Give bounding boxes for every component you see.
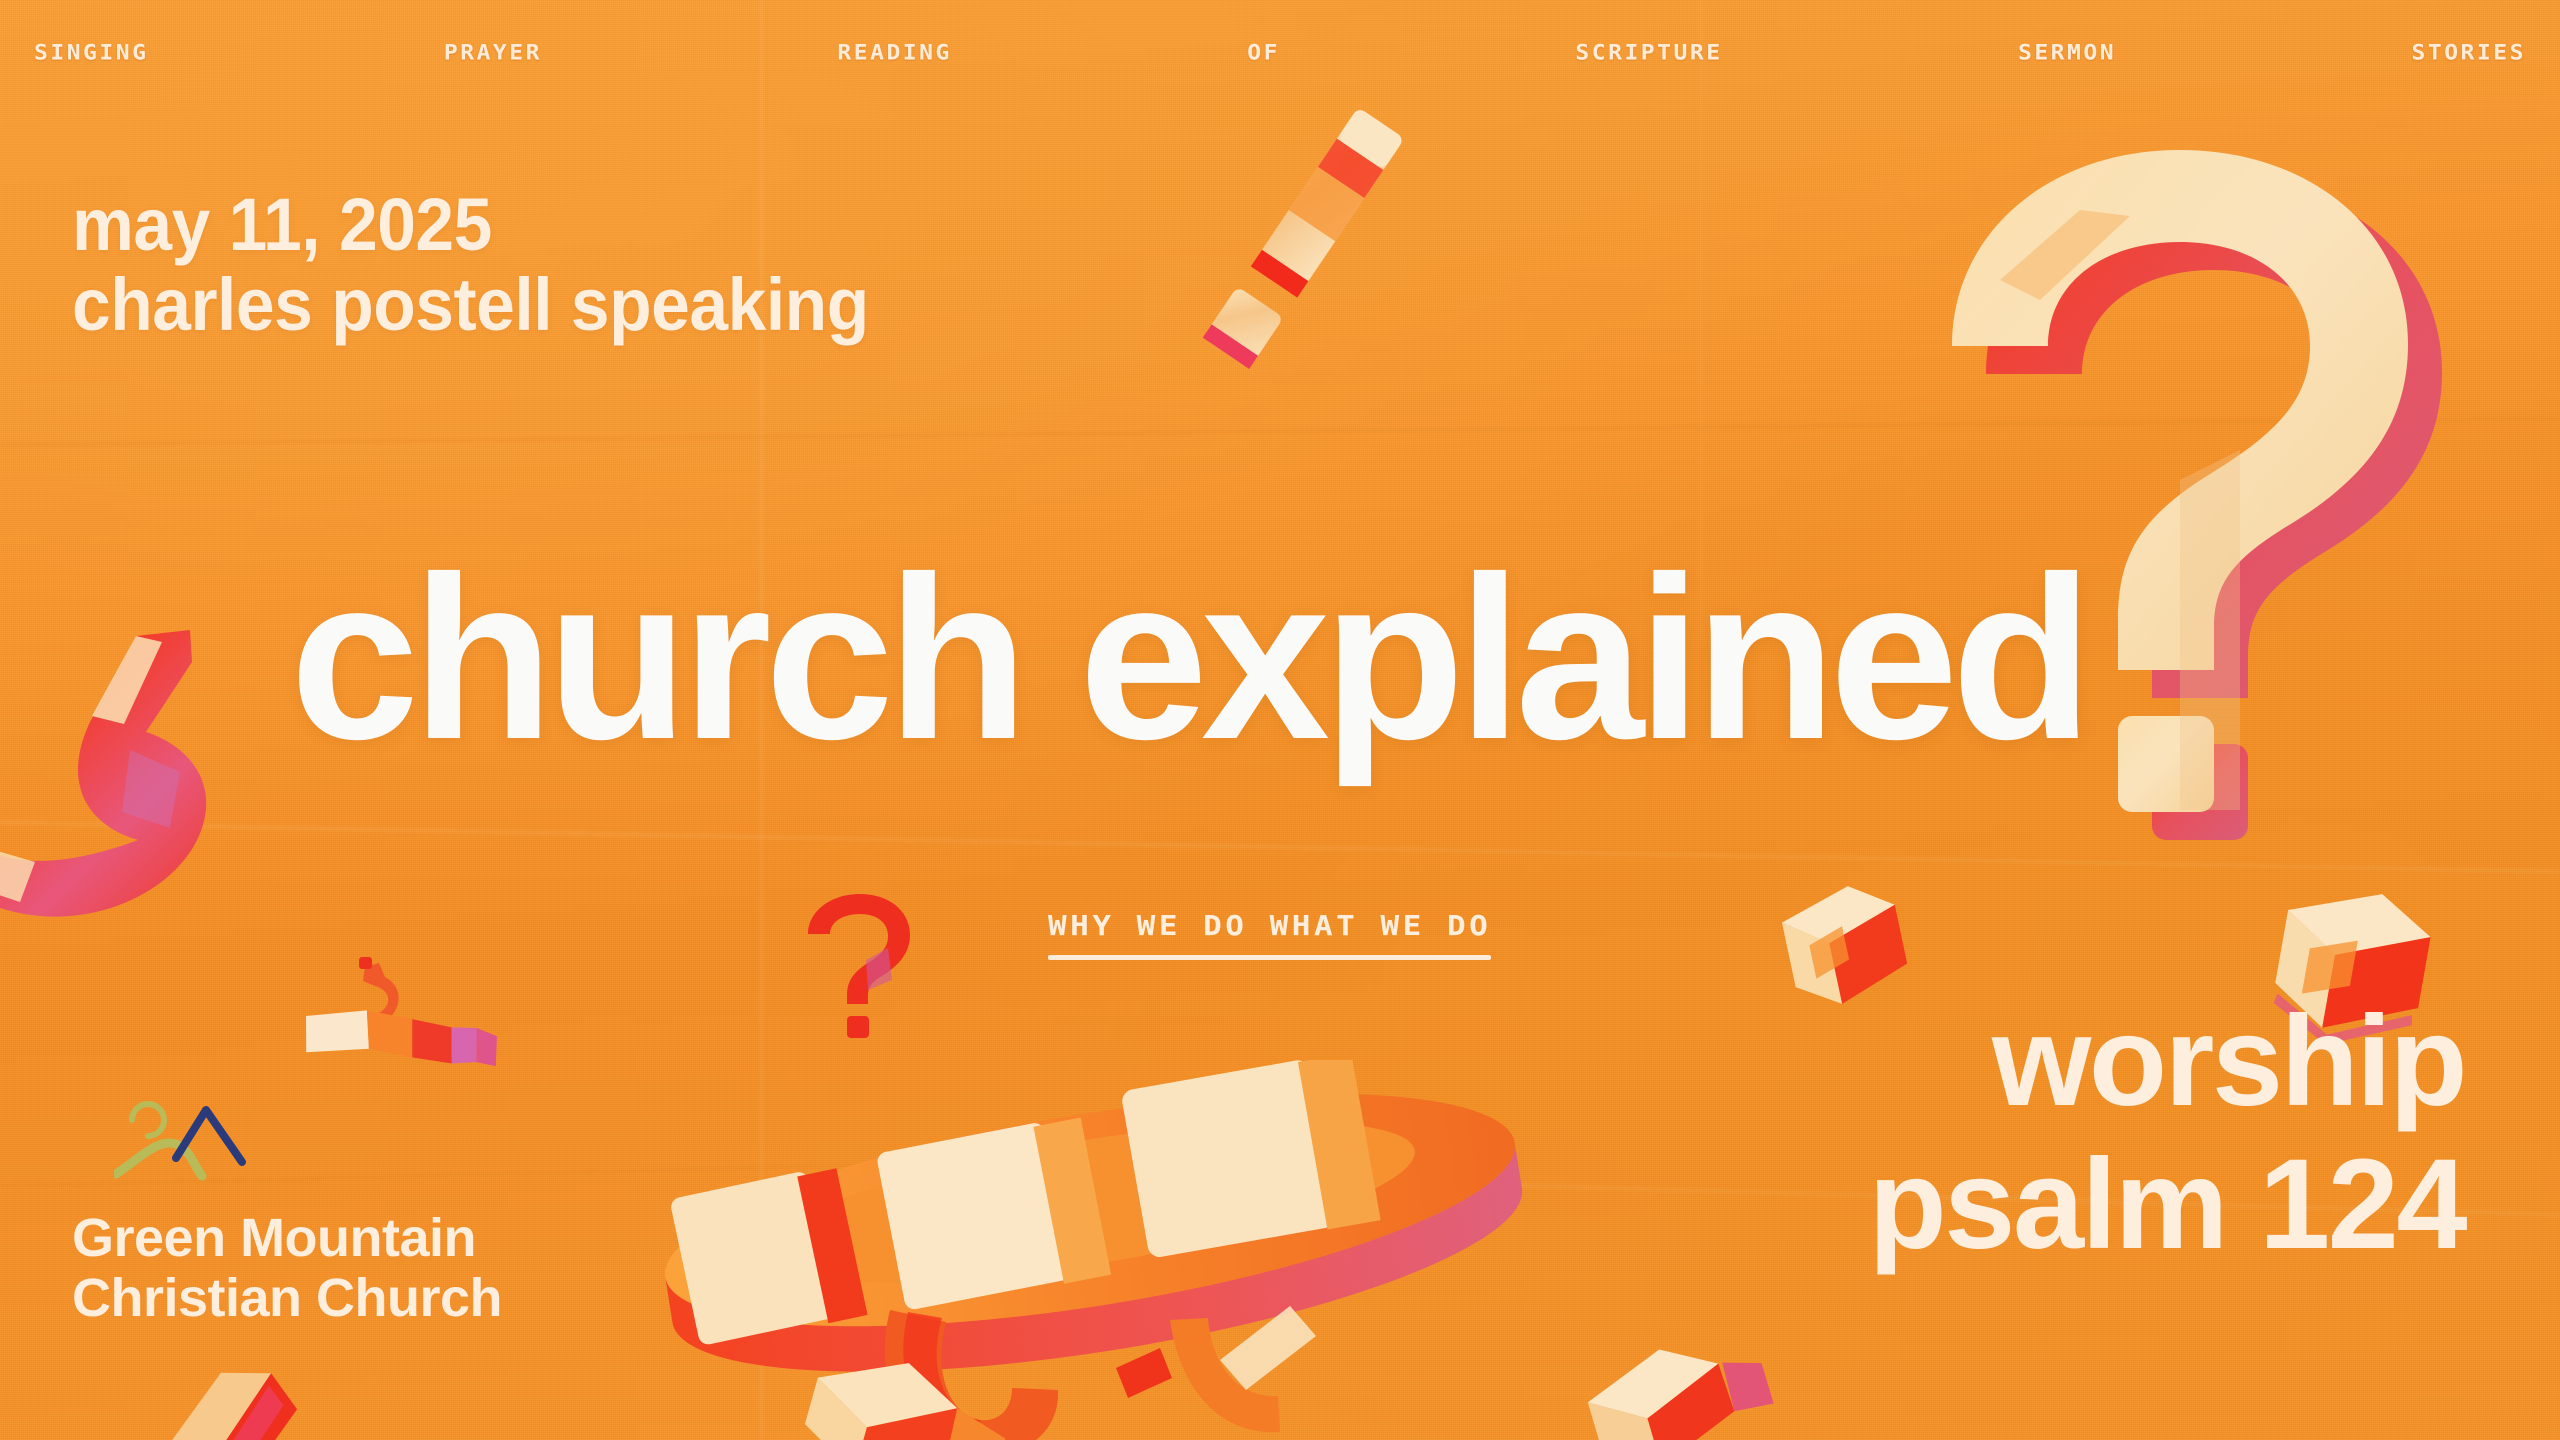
church-name-line-1: Green Mountain: [72, 1208, 502, 1268]
series-subtitle-text: WHY WE DO WHAT WE DO: [1048, 910, 1491, 942]
series-title: church explained: [290, 548, 2086, 771]
church-name-line-2: Christian Church: [72, 1268, 502, 1328]
worship-block: worship psalm 124: [1868, 990, 2465, 1277]
worship-heading: worship: [1868, 990, 2465, 1133]
worship-scripture-reference: psalm 124: [1868, 1133, 2465, 1276]
top-ticker: SINGING PRAYER READING OF SCRIPTURE SERM…: [0, 40, 2560, 66]
service-date: may 11, 2025: [72, 185, 869, 265]
service-speaker: charles postell speaking: [72, 265, 869, 345]
ticker-item: READING: [837, 41, 951, 65]
ticker-item: PRAYER: [444, 41, 542, 65]
green-mountain-logo-icon: [114, 1100, 304, 1192]
ticker-item: STORIES: [2412, 41, 2526, 65]
ticker-item: SCRIPTURE: [1575, 41, 1722, 65]
service-date-block: may 11, 2025 charles postell speaking: [72, 185, 920, 345]
ticker-item: SINGING: [34, 41, 148, 65]
subtitle-underline: [1048, 955, 1491, 960]
poster-canvas: SINGING PRAYER READING OF SCRIPTURE SERM…: [0, 0, 2560, 1440]
ticker-item: OF: [1247, 41, 1280, 65]
series-subtitle: WHY WE DO WHAT WE DO: [1048, 908, 1491, 960]
ticker-item: SERMON: [2018, 41, 2116, 65]
church-logo-block: Green Mountain Christian Church: [72, 1100, 502, 1329]
